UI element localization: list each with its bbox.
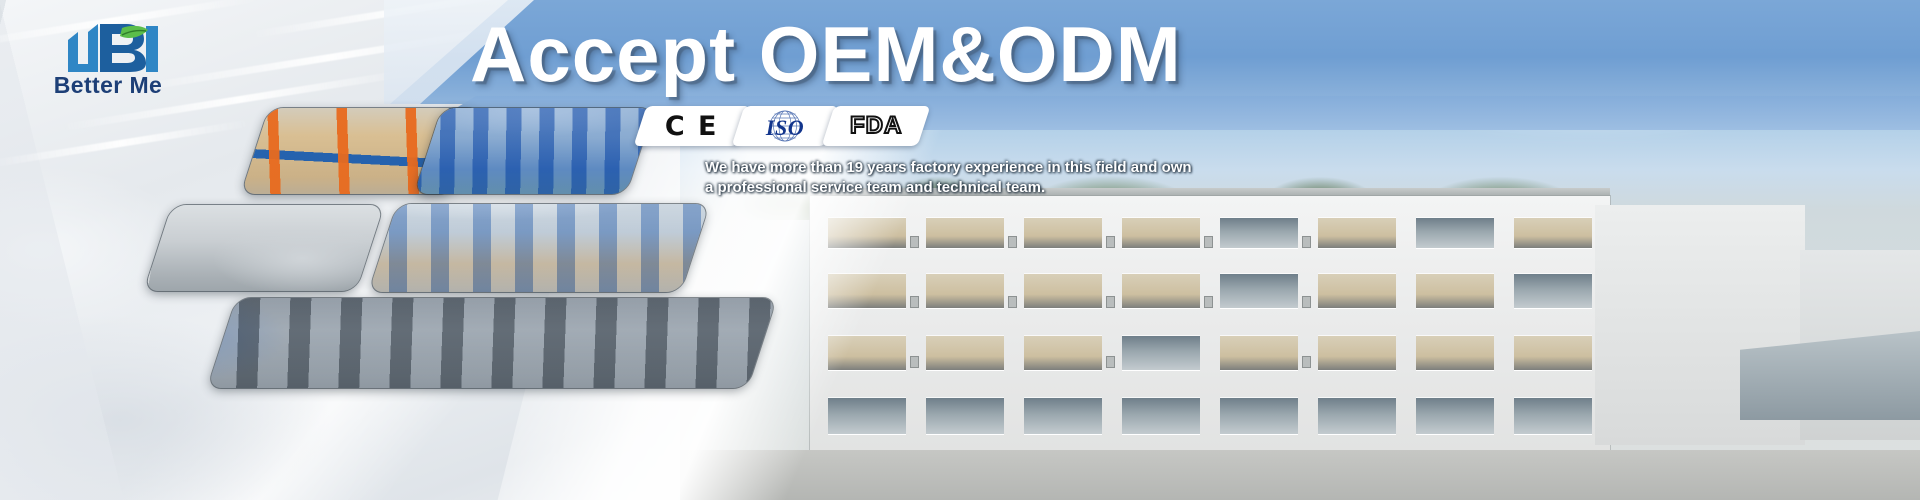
photo-production-line — [414, 108, 654, 194]
photo-assembly-hall — [369, 204, 710, 292]
banner-title: Accept OEM&ODM — [470, 8, 1170, 100]
description-text: We have more than 19 years factory exper… — [705, 158, 1175, 198]
photo-blister-machine — [207, 298, 776, 388]
iso-globe-icon: ISO — [748, 109, 822, 143]
brand-logo[interactable]: Better Me — [18, 20, 198, 100]
photo-packaging-machine — [144, 205, 384, 291]
description-line-1: We have more than 19 years factory exper… — [705, 158, 1175, 178]
ce-mark-icon: C E — [665, 111, 719, 142]
oem-odm-banner: Accept OEM&ODM Better Me C E — [0, 0, 1920, 500]
fda-outline-icon: FDA — [850, 112, 902, 140]
better-me-monogram-leaf-icon — [18, 20, 198, 76]
badge-fda: FDA — [822, 106, 931, 146]
brand-name: Better Me — [18, 72, 198, 99]
description-line-2: a professional service team and technica… — [705, 178, 1175, 198]
